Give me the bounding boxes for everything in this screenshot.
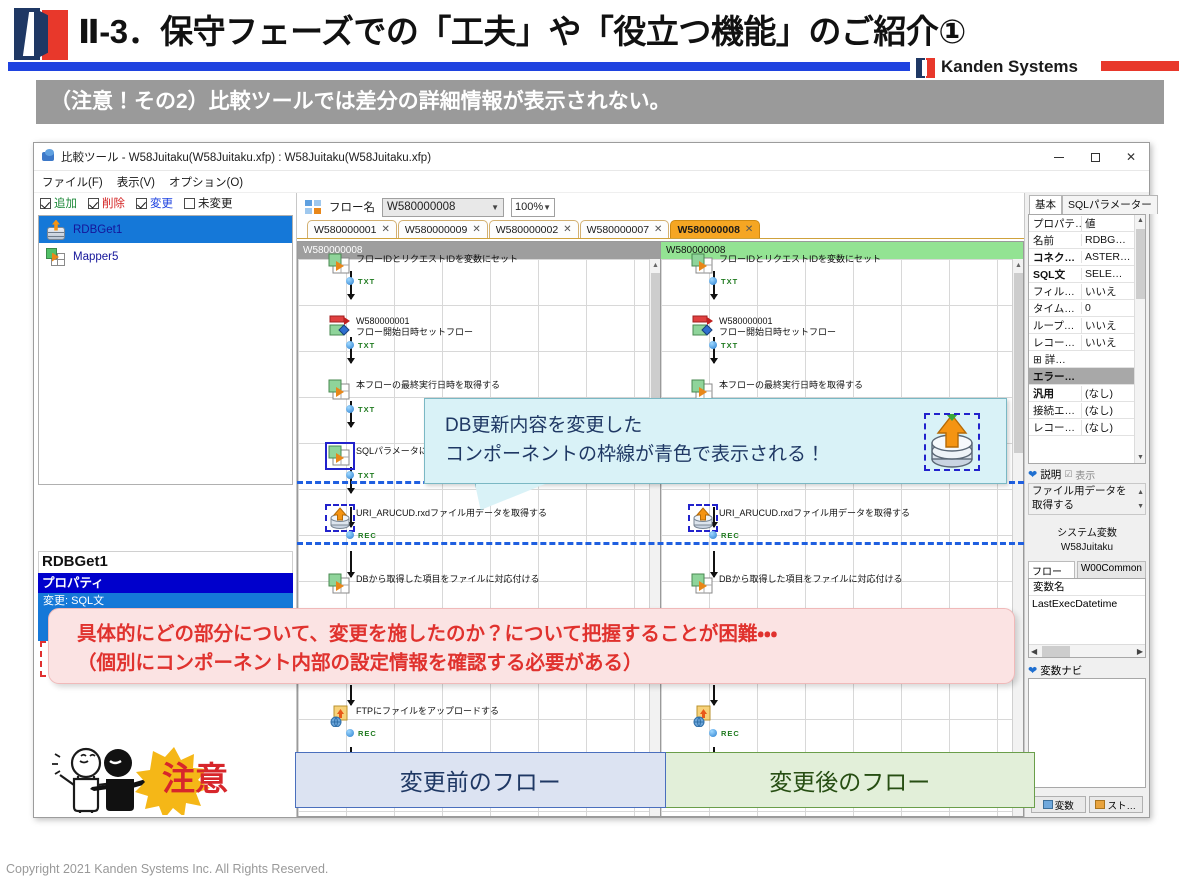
property-value: ASTER… — [1081, 251, 1134, 263]
node-label: W580000001 フロー開始日時セットフロー — [719, 315, 836, 338]
property-key: 名前 — [1029, 233, 1081, 248]
close-button[interactable]: ✕ — [1113, 143, 1149, 171]
node-sql-parameter[interactable]: SQLパラメータに... — [328, 445, 435, 467]
window-titlebar: 比較ツール - W58Juitaku(W58Juitaku.xfp) : W58… — [34, 143, 1149, 171]
property-row[interactable]: フィル…いいえ — [1029, 283, 1145, 300]
property-value: いいえ — [1081, 318, 1134, 333]
maximize-button[interactable] — [1077, 143, 1113, 171]
property-key: SQL文 — [1029, 267, 1081, 282]
property-grid[interactable]: プロパテ… 値 名前RDBG… コネク…ASTER… SQL文SELE… フィル… — [1028, 214, 1146, 464]
variable-grid-row[interactable]: LastExecDatetime — [1029, 596, 1145, 613]
property-panel-header: プロパティ — [38, 573, 293, 593]
tab-sql-parameter[interactable]: SQLパラメーター — [1062, 195, 1158, 214]
node-label: フローIDとリクエストIDを変数にセット — [356, 253, 518, 265]
flow-name-value: W580000008 — [387, 201, 455, 213]
bottom-tab-variable[interactable]: 変数 — [1031, 796, 1086, 813]
flow-tab-W580000009[interactable]: W580000009 ✕ — [398, 220, 488, 238]
window-controls: ✕ — [1041, 143, 1149, 171]
flow-tab-W580000007[interactable]: W580000007 ✕ — [580, 220, 670, 238]
property-value: いいえ — [1081, 284, 1134, 299]
after-flow-label: 変更後のフロー — [666, 752, 1036, 808]
close-icon[interactable]: ✕ — [381, 224, 389, 235]
node-label: 本フローの最終実行日時を取得する — [719, 379, 863, 391]
right-pane-bottom-tabs: 変数 スト… — [1031, 796, 1143, 813]
ftp-upload-icon — [328, 705, 352, 727]
property-value: RDBG… — [1081, 234, 1134, 246]
property-key: ⊞ 詳… — [1029, 352, 1081, 367]
node-set-variables[interactable]: フローIDとリクエストIDを変数にセット — [328, 253, 518, 275]
subflow-icon — [691, 315, 715, 337]
flow-tab-label: W580000007 — [587, 224, 649, 236]
node-subflow-start-datetime[interactable]: W580000001 フロー開始日時セットフロー — [328, 315, 473, 338]
description-title: 説明 — [1040, 467, 1061, 482]
description-header[interactable]: ❤ 説明 ☑ 表示 — [1028, 466, 1146, 483]
property-tabs: 基本 SQLパラメーター — [1025, 193, 1149, 214]
flow-tabstrip: W580000001 ✕ W580000009 ✕ W580000002 ✕ W… — [297, 219, 1024, 239]
property-value: (なし) — [1081, 386, 1134, 401]
description-toggle-label: 表示 — [1075, 467, 1095, 482]
property-value: いいえ — [1081, 335, 1134, 350]
svg-text:注意: 注意 — [162, 760, 228, 797]
variable-grid-hscrollbar[interactable]: ◀ ▶ — [1029, 644, 1145, 657]
description-text[interactable]: ファイル用データを 取得する ▲▼ — [1028, 483, 1146, 515]
variable-grid[interactable]: 変数名 LastExecDatetime ◀ ▶ — [1028, 578, 1146, 658]
close-icon[interactable]: ✕ — [745, 224, 753, 235]
bottom-tab-label: 変数 — [1055, 798, 1074, 812]
caution-mascot: 注意 — [44, 743, 284, 815]
zoom-value: 100% — [515, 201, 543, 213]
window-title: 比較ツール - W58Juitaku(W58Juitaku.xfp) : W58… — [61, 149, 431, 165]
pink-callout-text: 具体的にどの部分について、変更を施したのか？について把握することが困難・・・ （… — [77, 620, 777, 678]
filter-add-label: 追加 — [54, 195, 77, 211]
tab-basic[interactable]: 基本 — [1029, 195, 1062, 214]
property-row[interactable]: レコー…いいえ — [1029, 334, 1145, 351]
storage-icon — [1095, 800, 1105, 809]
chevron-down-icon[interactable]: ❤ — [1028, 468, 1037, 481]
tree-item-label: RDBGet1 — [73, 224, 122, 236]
filter-change[interactable]: 変更 — [136, 195, 173, 211]
col-value: 値 — [1081, 216, 1134, 231]
variable-navi-title: 変数ナビ — [1040, 663, 1082, 678]
node-map-db-to-file[interactable]: DBから取得した項目をファイルに対応付ける — [328, 573, 540, 595]
chevron-up-icon[interactable]: ▲ — [1137, 217, 1144, 224]
diagram-compare-area: W580000008 TXT フローIDとリクエストIDを変数にセット — [297, 241, 1024, 817]
window-body: 追加 削除 変更 未変更 — [34, 193, 1149, 817]
flow-comparison-labels: 変更前のフロー 変更後のフロー — [295, 752, 1035, 808]
node-label: FTPにファイルをアップロードする — [356, 705, 499, 717]
property-value: SELE… — [1081, 268, 1134, 280]
app-icon — [41, 149, 56, 164]
property-value: (なし) — [1081, 420, 1134, 435]
property-row[interactable]: 汎用(なし) — [1029, 385, 1145, 402]
chevron-up-icon[interactable]: ▲ — [1015, 262, 1022, 269]
filter-change-label: 変更 — [150, 195, 173, 211]
chevron-down-icon[interactable]: ❤ — [1028, 664, 1037, 677]
close-icon[interactable]: ✕ — [563, 224, 571, 235]
minimize-button[interactable] — [1041, 143, 1077, 171]
copyright-footer: Copyright 2021 Kanden Systems Inc. All R… — [6, 862, 328, 876]
chevron-down-icon[interactable]: ▼ — [1137, 454, 1144, 461]
property-row[interactable]: ループ…いいえ — [1029, 317, 1145, 334]
header-red-rule — [1101, 61, 1179, 71]
variable-icon — [1043, 800, 1053, 809]
diff-highlight-band — [297, 481, 1024, 545]
property-key: コネク… — [1029, 250, 1081, 265]
bottom-tab-label: スト… — [1107, 798, 1136, 812]
mapper-icon — [691, 573, 715, 595]
property-row[interactable]: 接続エ…(なし) — [1029, 402, 1145, 419]
chevron-left-icon[interactable]: ◀ — [1029, 647, 1039, 656]
property-row[interactable]: レコー…(なし) — [1029, 419, 1145, 436]
chevron-down-icon: ▼ — [543, 203, 554, 212]
close-icon[interactable]: ✕ — [654, 224, 662, 235]
property-grid-header: プロパテ… 値 — [1029, 215, 1145, 232]
mapper-icon — [328, 573, 352, 595]
property-component-name: RDBGet1 — [38, 551, 293, 573]
database-upload-icon — [924, 413, 980, 471]
blue-callout: DB更新内容を変更した コンポーネントの枠線が青色で表示される！ — [424, 398, 1007, 484]
subflow-icon — [328, 315, 352, 337]
property-row-expandable[interactable]: ⊞ 詳… — [1029, 351, 1145, 368]
flow-tab-W580000008[interactable]: W580000008 ✕ — [670, 220, 760, 238]
mapper-icon — [691, 253, 715, 275]
mapper-icon — [328, 445, 352, 467]
description-body: ファイル用データを 取得する — [1032, 485, 1127, 511]
database-upload-icon — [45, 220, 67, 240]
variable-navi-box[interactable] — [1028, 678, 1146, 788]
property-key: レコー… — [1029, 420, 1081, 435]
property-key: タイム… — [1029, 301, 1081, 316]
flow-tab-W580000002[interactable]: W580000002 ✕ — [489, 220, 579, 238]
brand-name: Kanden Systems — [941, 57, 1078, 77]
blue-callout-text: DB更新内容を変更した コンポーネントの枠線が青色で表示される！ — [445, 411, 825, 469]
filter-unchanged[interactable]: 未変更 — [184, 195, 233, 211]
tree-item-rdbget1[interactable]: RDBGet1 — [39, 216, 292, 243]
filter-delete-checkbox[interactable] — [88, 198, 99, 209]
property-row[interactable]: 名前RDBG… — [1029, 232, 1145, 249]
tree-item-mapper5[interactable]: Mapper5 — [39, 243, 292, 270]
property-value: (なし) — [1081, 403, 1134, 418]
mapper-icon — [328, 253, 352, 275]
col-property: プロパテ… — [1029, 216, 1081, 231]
flow-tab-label: W580000008 — [677, 224, 739, 236]
kanden-book-logo-icon — [14, 8, 72, 60]
header-blue-rule — [8, 62, 910, 71]
filter-add-checkbox[interactable] — [40, 198, 51, 209]
property-key: 汎用 — [1029, 386, 1081, 401]
property-row[interactable]: エラー… — [1029, 368, 1145, 385]
node-subflow-start-datetime[interactable]: W580000001 フロー開始日時セットフロー — [691, 315, 836, 338]
property-key: フィル… — [1029, 284, 1081, 299]
property-key: レコー… — [1029, 335, 1081, 350]
property-row[interactable]: コネク…ASTER… — [1029, 249, 1145, 266]
property-key: ループ… — [1029, 318, 1081, 333]
kanden-brand-logo-icon — [916, 58, 936, 78]
chevron-right-icon[interactable]: ▶ — [1135, 647, 1145, 656]
left-pane: 追加 削除 変更 未変更 — [34, 193, 297, 817]
flow-tab-label: W580000002 — [496, 224, 558, 236]
node-set-variables[interactable]: フローIDとリクエストIDを変数にセット — [691, 253, 881, 275]
property-key: エラー… — [1029, 369, 1081, 384]
flow-tab-W580000001[interactable]: W580000001 ✕ — [307, 220, 397, 238]
property-grid-scrollbar[interactable]: ▲ ▼ — [1134, 215, 1145, 463]
filter-add[interactable]: 追加 — [40, 195, 77, 211]
zoom-select[interactable]: 100% ▼ — [511, 198, 555, 217]
node-label: W580000001 フロー開始日時セットフロー — [356, 315, 473, 338]
chevron-up-icon[interactable]: ▲▼ — [1137, 486, 1144, 514]
tree-item-label: Mapper5 — [73, 251, 118, 263]
filter-unchanged-checkbox[interactable] — [184, 198, 195, 209]
variable-grid-header: 変数名 — [1029, 579, 1145, 596]
node-label: フローIDとリクエストIDを変数にセット — [719, 253, 881, 265]
filter-delete-label: 削除 — [102, 195, 125, 211]
page-title: Ⅱ-3．保守フェーズでの「工夫」や「役立つ機能」のご紹介① — [78, 6, 1078, 58]
flow-toolbar: フロー名 W580000008 ▼ 100% ▼ — [297, 193, 1024, 219]
diff-filter-row: 追加 削除 変更 未変更 — [34, 193, 296, 213]
property-row[interactable]: SQL文SELE… — [1029, 266, 1145, 283]
system-variable-project: W58Juitaku — [1028, 541, 1146, 555]
filter-change-checkbox[interactable] — [136, 198, 147, 209]
flow-tab-label: W580000001 — [314, 224, 376, 236]
menu-item-file[interactable]: ファイル(F) — [42, 174, 103, 190]
node-map-db-to-file[interactable]: DBから取得した項目をファイルに対応付ける — [691, 573, 903, 595]
node-label: DBから取得した項目をファイルに対応付ける — [356, 573, 540, 585]
mapper-icon — [328, 379, 352, 401]
filter-unchanged-label: 未変更 — [198, 195, 233, 211]
system-variable-box: システム変数 W58Juitaku — [1028, 525, 1146, 561]
scrollbar-thumb[interactable] — [1014, 273, 1023, 453]
ftp-upload-icon — [691, 705, 715, 727]
slide-root: Ⅱ-3．保守フェーズでの「工夫」や「役立つ機能」のご紹介① Kanden Sys… — [0, 0, 1179, 884]
property-diff-row[interactable]: 変更: SQL文 — [38, 593, 293, 609]
flow-grid-icon — [305, 200, 322, 215]
scrollbar-thumb[interactable] — [1136, 229, 1145, 299]
node-ftp-upload[interactable]: FTPにファイルをアップロードする — [328, 705, 499, 727]
component-tree[interactable]: RDBGet1 Mapper5 — [38, 215, 293, 485]
pink-callout: 具体的にどの部分について、変更を施したのか？について把握することが困難・・・ （… — [48, 608, 1015, 684]
flow-name-label: フロー名 — [329, 199, 375, 215]
bottom-tab-storage[interactable]: スト… — [1089, 796, 1144, 813]
chevron-down-icon: ▼ — [491, 203, 503, 212]
menu-item-options[interactable]: オプション(O) — [169, 174, 243, 190]
node-label: DBから取得した項目をファイルに対応付ける — [719, 573, 903, 585]
mapper-icon — [45, 247, 67, 267]
close-icon[interactable]: ✕ — [472, 224, 480, 235]
flow-name-select[interactable]: W580000008 ▼ — [382, 198, 504, 217]
node-ftp-upload[interactable] — [691, 705, 719, 727]
variable-navi-header[interactable]: ❤ 変数ナビ — [1028, 662, 1146, 678]
chevron-up-icon[interactable]: ▲ — [652, 262, 659, 269]
center-pane: フロー名 W580000008 ▼ 100% ▼ W580000001 ✕ — [297, 193, 1024, 817]
subtitle-banner: （注意！その2）比較ツールでは差分の詳細情報が表示されない。 — [36, 80, 1164, 124]
description-toggle-check[interactable]: ☑ — [1064, 469, 1072, 480]
property-value: 0 — [1081, 302, 1134, 314]
property-row[interactable]: タイム…0 — [1029, 300, 1145, 317]
menubar: ファイル(F) 表示(V) オプション(O) — [34, 171, 1149, 193]
menu-item-view[interactable]: 表示(V) — [117, 174, 155, 190]
right-pane: 基本 SQLパラメーター プロパテ… 値 名前RDBG… コネク…ASTER… … — [1024, 193, 1149, 817]
system-variable-title: システム変数 — [1028, 527, 1146, 541]
before-flow-label: 変更前のフロー — [295, 752, 666, 808]
flow-tab-label: W580000009 — [405, 224, 467, 236]
property-key: 接続エ… — [1029, 403, 1081, 418]
scrollbar-thumb[interactable] — [1042, 646, 1070, 657]
filter-delete[interactable]: 削除 — [88, 195, 125, 211]
node-label: 本フローの最終実行日時を取得する — [356, 379, 500, 391]
